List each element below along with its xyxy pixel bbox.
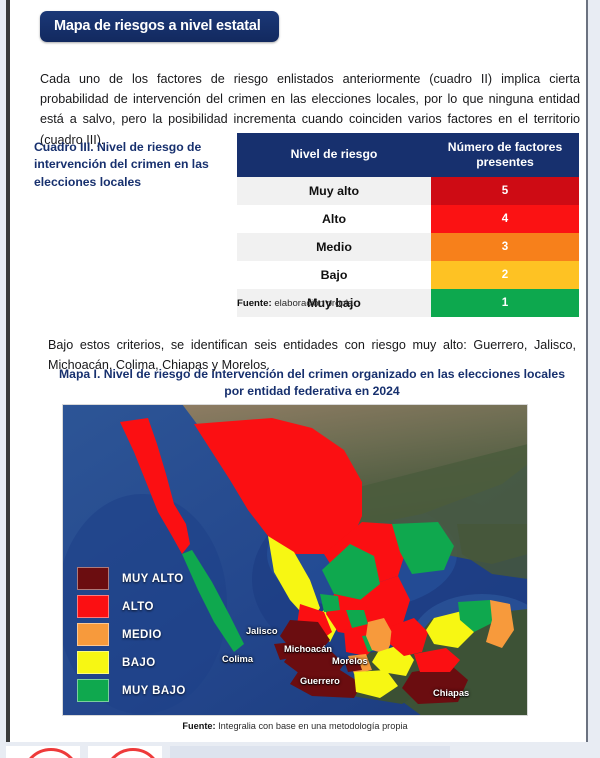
cell-nivel: Alto bbox=[237, 205, 431, 233]
map-source-text: Integralia con base en una metodología p… bbox=[216, 721, 408, 731]
header-numero-de-factores: Número de factores presentes bbox=[431, 133, 579, 177]
section-title-badge: Mapa de riesgos a nivel estatal bbox=[40, 11, 279, 42]
legend-item: ALTO bbox=[77, 595, 186, 618]
legend-label: MUY ALTO bbox=[122, 573, 184, 585]
cuadro-source-prefix: Fuente: bbox=[237, 298, 272, 309]
map-source-prefix: Fuente: bbox=[182, 721, 215, 731]
legend-label: ALTO bbox=[122, 601, 154, 613]
risk-level-table: Nivel de riesgo Número de factores prese… bbox=[237, 133, 579, 317]
cell-factores: 3 bbox=[431, 233, 579, 261]
strip-card-3[interactable] bbox=[170, 746, 450, 758]
legend-label: MUY BAJO bbox=[122, 685, 186, 697]
risk-table-body: Muy alto5Alto4Medio3Bajo2Muy bajo1 bbox=[237, 177, 579, 317]
bottom-partial-strip bbox=[0, 742, 600, 758]
legend-item: MUY ALTO bbox=[77, 567, 186, 590]
cell-factores: 5 bbox=[431, 177, 579, 205]
legend-swatch-icon bbox=[77, 623, 109, 646]
legend-item: MUY BAJO bbox=[77, 679, 186, 702]
map-title-line1: Mapa I. Nivel de riesgo de intervención … bbox=[59, 367, 565, 381]
cuadro-source-text: elaboración propia bbox=[272, 298, 354, 309]
legend-swatch-icon bbox=[77, 595, 109, 618]
map-source: Fuente: Integralia con base en una metod… bbox=[62, 721, 528, 731]
legend-label: MEDIO bbox=[122, 629, 162, 641]
cell-nivel: Medio bbox=[237, 233, 431, 261]
cell-factores: 2 bbox=[431, 261, 579, 289]
legend-swatch-icon bbox=[77, 651, 109, 674]
map-title-line2: por entidad federativa en 2024 bbox=[224, 384, 399, 398]
screenshot-root: Mapa de riesgos a nivel estatal Cada uno… bbox=[0, 0, 600, 758]
cell-nivel: Bajo bbox=[237, 261, 431, 289]
cell-factores: 1 bbox=[431, 289, 579, 317]
table-row: Alto4 bbox=[237, 205, 579, 233]
cell-factores: 4 bbox=[431, 205, 579, 233]
map-legend: MUY ALTOALTOMEDIOBAJOMUY BAJO bbox=[77, 567, 186, 707]
cuadro-iii-caption: Cuadro III. Nivel de riesgo de intervenc… bbox=[34, 139, 232, 191]
document-page: Mapa de riesgos a nivel estatal Cada uno… bbox=[6, 0, 588, 742]
legend-item: BAJO bbox=[77, 651, 186, 674]
cuadro-source: Fuente: elaboración propia bbox=[237, 298, 353, 309]
header-nivel-de-riesgo: Nivel de riesgo bbox=[237, 133, 431, 177]
legend-item: MEDIO bbox=[77, 623, 186, 646]
map-title: Mapa I. Nivel de riesgo de intervención … bbox=[48, 366, 576, 401]
table-row: Medio3 bbox=[237, 233, 579, 261]
table-header-row: Nivel de riesgo Número de factores prese… bbox=[237, 133, 579, 177]
legend-label: BAJO bbox=[122, 657, 156, 669]
legend-swatch-icon bbox=[77, 679, 109, 702]
legend-swatch-icon bbox=[77, 567, 109, 590]
risk-map-figure: MUY ALTOALTOMEDIOBAJOMUY BAJO JaliscoCol… bbox=[62, 404, 528, 716]
table-row: Muy alto5 bbox=[237, 177, 579, 205]
cell-nivel: Muy alto bbox=[237, 177, 431, 205]
table-row: Bajo2 bbox=[237, 261, 579, 289]
